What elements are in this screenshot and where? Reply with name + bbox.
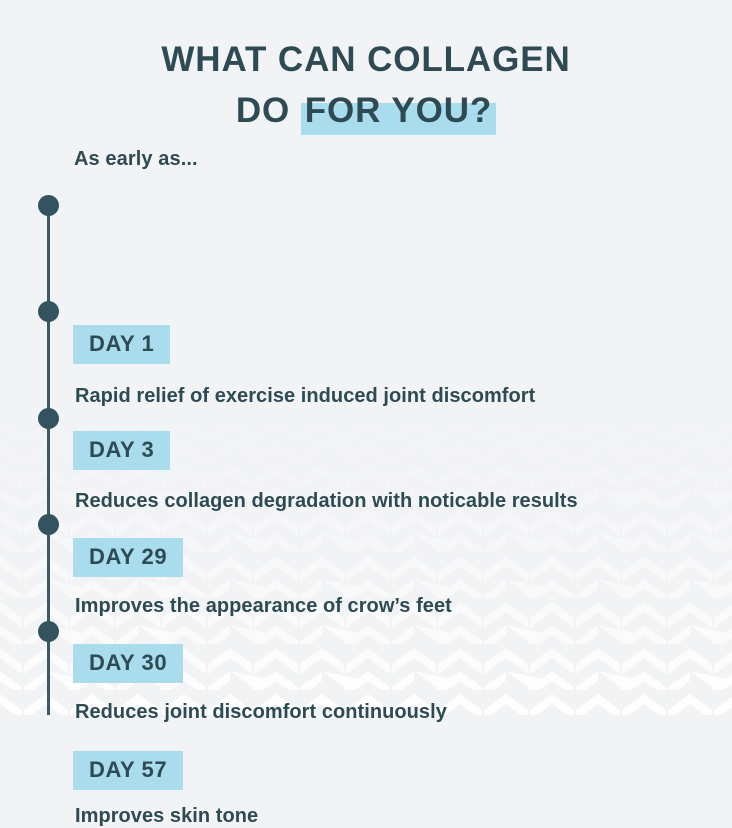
day-badge: DAY 3 xyxy=(73,431,170,470)
day-badge: DAY 57 xyxy=(73,751,183,790)
timeline-dot xyxy=(38,621,59,642)
timeline-dot xyxy=(38,195,59,216)
timeline-dot xyxy=(38,514,59,535)
infographic-root: WHAT CAN COLLAGEN DO FOR YOU? As early a… xyxy=(0,0,732,715)
item-description: Rapid relief of exercise induced joint d… xyxy=(75,385,535,408)
title-line-2-plain: DO xyxy=(236,91,290,130)
item-description: Improves skin tone xyxy=(75,805,258,828)
title-highlight: FOR YOU? xyxy=(301,85,496,136)
item-description: Reduces joint discomfort continuously xyxy=(75,701,447,724)
day-badge: DAY 29 xyxy=(73,538,183,577)
title-line-1: WHAT CAN COLLAGEN xyxy=(0,34,732,85)
timeline-dot xyxy=(38,408,59,429)
item-description: Improves the appearance of crow’s feet xyxy=(75,595,452,618)
item-description: Reduces collagen degradation with notica… xyxy=(75,490,578,513)
timeline-dot xyxy=(38,301,59,322)
day-badge: DAY 1 xyxy=(73,325,170,364)
title-line-2: DO FOR YOU? xyxy=(0,85,732,136)
intro-label: As early as... xyxy=(74,148,198,171)
day-badge: DAY 30 xyxy=(73,644,183,683)
page-title: WHAT CAN COLLAGEN DO FOR YOU? xyxy=(0,0,732,136)
